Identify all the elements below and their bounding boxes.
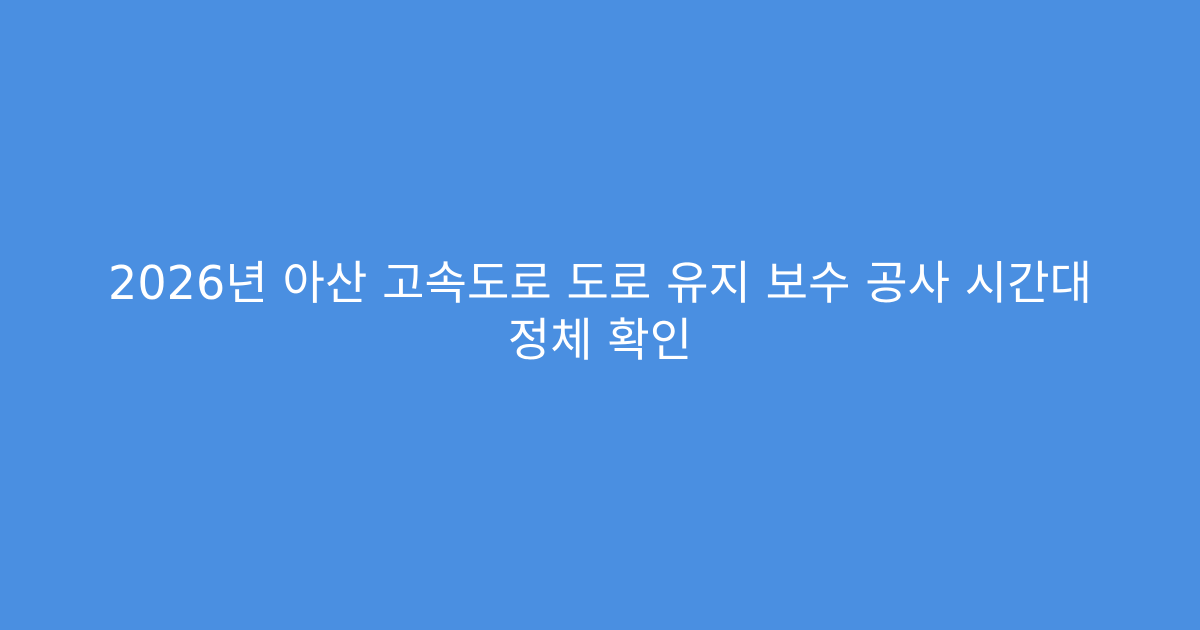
title-block: 2026년 아산 고속도로 도로 유지 보수 공사 시간대 정체 확인 <box>63 255 1138 369</box>
page-title: 2026년 아산 고속도로 도로 유지 보수 공사 시간대 정체 확인 <box>63 255 1138 369</box>
og-image-card: 2026년 아산 고속도로 도로 유지 보수 공사 시간대 정체 확인 <box>0 0 1200 630</box>
